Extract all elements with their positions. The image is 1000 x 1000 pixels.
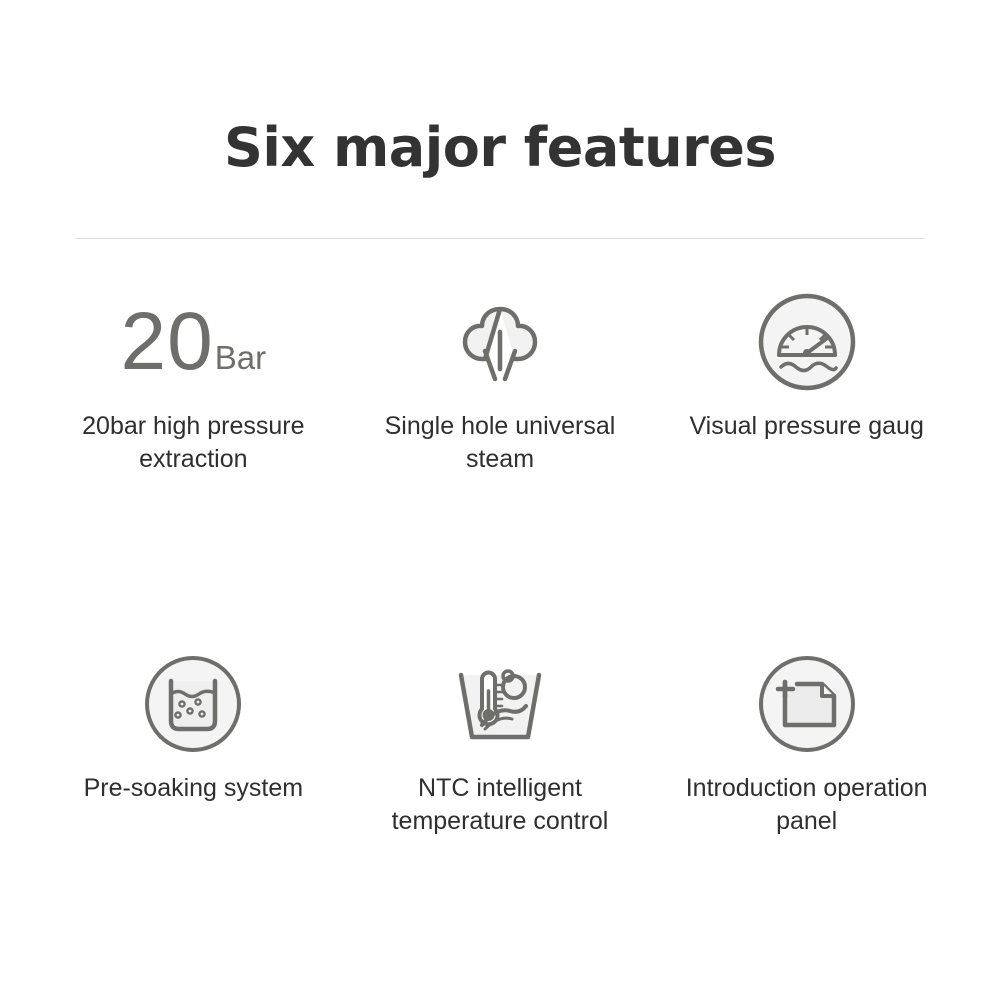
features-grid: 20 Bar 20bar high pressure extraction Si…: [40, 282, 960, 862]
icon-container: [445, 282, 555, 402]
title-divider: [76, 238, 924, 239]
feature-card-gauge: Visual pressure gaug: [653, 282, 960, 500]
pressure-gauge-icon: [752, 287, 862, 397]
feature-caption: Visual pressure gaug: [689, 410, 923, 443]
feature-caption: Introduction operation panel: [657, 772, 957, 838]
operation-panel-icon: [752, 649, 862, 759]
pre-soak-cup-icon: [138, 649, 248, 759]
bar-number: 20: [121, 301, 214, 383]
feature-caption: Pre-soaking system: [84, 772, 304, 805]
20bar-text-icon: 20 Bar: [121, 301, 267, 383]
feature-caption: NTC intelligent temperature control: [350, 772, 650, 838]
feature-highlights-page: Six major features 20 Bar 20bar high pre…: [0, 0, 1000, 1000]
icon-container: [138, 644, 248, 764]
feature-card-ntc: NTC intelligent temperature control: [347, 644, 654, 862]
thermometer-basin-icon: [444, 649, 556, 759]
icon-container: [444, 644, 556, 764]
page-title: Six major features: [0, 118, 1000, 177]
steam-cloud-icon: [445, 287, 555, 397]
feature-card-steam: Single hole universal steam: [347, 282, 654, 500]
feature-card-presoak: Pre-soaking system: [40, 644, 347, 862]
feature-caption: Single hole universal steam: [350, 410, 650, 476]
icon-container: 20 Bar: [121, 282, 267, 402]
feature-caption: 20bar high pressure extraction: [43, 410, 343, 476]
feature-card-20bar: 20 Bar 20bar high pressure extraction: [40, 282, 347, 500]
icon-container: [752, 282, 862, 402]
icon-container: [752, 644, 862, 764]
feature-card-panel: Introduction operation panel: [653, 644, 960, 862]
bar-unit: Bar: [215, 341, 266, 374]
